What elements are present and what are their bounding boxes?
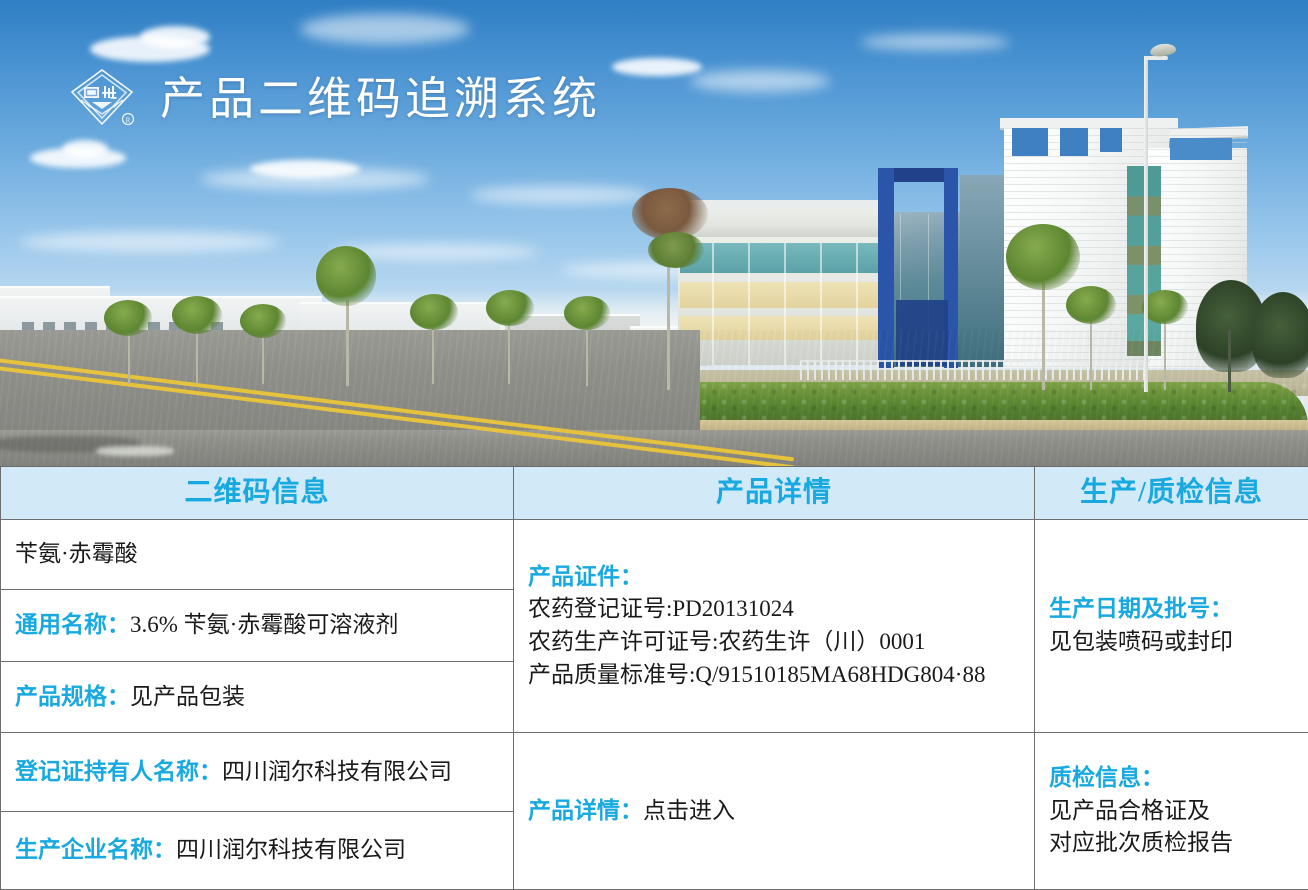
qc-line-1: 见产品合格证及 (1049, 795, 1294, 828)
tree-canopy (410, 294, 458, 330)
tree-canopy (1006, 224, 1080, 290)
column-header-production-info: 生产/质检信息 (1035, 467, 1308, 520)
tower-sky-notch (1100, 128, 1122, 152)
manufacturer-value: 四川润尔科技有限公司 (176, 837, 406, 862)
column-header-product-detail: 产品详情 (514, 467, 1035, 520)
page-title: 产品二维码追溯系统 (160, 76, 601, 121)
table-row: 苄氨·赤霉酸 产品证件： 农药登记证号:PD20131024 农药生产许可证号:… (1, 520, 1308, 590)
product-detail-label: 产品详情： (528, 798, 643, 823)
registrant-holder-row: 登记证持有人名称：四川润尔科技有限公司 (15, 759, 452, 784)
cloud-icon (612, 58, 702, 76)
tree-trunk (346, 300, 349, 386)
tree-canopy (104, 300, 152, 336)
street-lamp-pole (1144, 56, 1148, 392)
certificate-production-license-no: 农药生产许可证号:农药生许（川）0001 (528, 626, 1020, 659)
specification-label: 产品规格： (15, 684, 130, 709)
qc-label: 质检信息： (1049, 762, 1294, 795)
certificate-registration-no: 农药登记证号:PD20131024 (528, 593, 1020, 626)
cloud-icon (860, 34, 1010, 50)
specification-row: 产品规格：见产品包装 (15, 684, 245, 709)
cell-production-batch: 生产日期及批号： 见包装喷码或封印 (1035, 520, 1308, 733)
table-row: 登记证持有人名称：四川润尔科技有限公司 产品详情：点击进入 质检信息： 见产品合… (1, 733, 1308, 812)
product-name-value: 苄氨·赤霉酸 (15, 541, 138, 566)
street-lamp-arm (1146, 56, 1168, 60)
cell-specification: 产品规格：见产品包装 (1, 662, 514, 733)
cell-manufacturer: 生产企业名称：四川润尔科技有限公司 (1, 812, 514, 890)
dark-tree (1252, 292, 1308, 378)
cloud-icon (20, 232, 280, 252)
cell-registrant-holder: 登记证持有人名称：四川润尔科技有限公司 (1, 733, 514, 812)
guoguang-diamond-logo: R (66, 62, 138, 134)
page-root: R 产品二维码追溯系统 二维码信息 产品详情 生产/质检信息 (0, 0, 1308, 888)
svg-text:R: R (126, 117, 131, 125)
office-facade-band (680, 282, 878, 308)
cloud-icon (300, 14, 470, 44)
table-header-row: 二维码信息 产品详情 生产/质检信息 (1, 467, 1308, 520)
road-patch (96, 446, 174, 456)
manufacturer-row: 生产企业名称：四川润尔科技有限公司 (15, 837, 406, 862)
column-header-qrcode-info: 二维码信息 (1, 467, 514, 520)
cloud-icon (250, 160, 360, 178)
tower-sky-notch (1170, 138, 1232, 160)
factory-photo-banner: R 产品二维码追溯系统 (0, 0, 1308, 466)
general-name-row: 通用名称：3.6% 苄氨·赤霉酸可溶液剂 (15, 612, 398, 637)
brand-header: R 产品二维码追溯系统 (66, 62, 601, 134)
column-header-label: 二维码信息 (184, 477, 329, 508)
cloud-icon (62, 140, 108, 158)
cell-product-certificates: 产品证件： 农药登记证号:PD20131024 农药生产许可证号:农药生许（川）… (514, 520, 1035, 733)
tree-trunk (1228, 330, 1231, 392)
cell-product-name: 苄氨·赤霉酸 (1, 520, 514, 590)
specification-value: 见产品包装 (130, 684, 245, 709)
tree-canopy (172, 296, 222, 334)
batch-value: 见包装喷码或封印 (1049, 626, 1294, 659)
tree-trunk (1042, 280, 1045, 390)
certificates-block: 产品证件： 农药登记证号:PD20131024 农药生产许可证号:农药生许（川）… (528, 561, 1020, 692)
registrant-holder-label: 登记证持有人名称： (15, 759, 222, 784)
registrant-holder-value: 四川润尔科技有限公司 (222, 759, 452, 784)
tower-sky-notch (1012, 128, 1048, 156)
batch-label: 生产日期及批号： (1049, 593, 1294, 626)
column-header-label: 生产/质检信息 (1080, 477, 1263, 508)
tree-canopy-tall (648, 232, 704, 268)
office-glass-band (680, 243, 878, 273)
tower-sky-notch (1060, 128, 1088, 156)
office-roof-slab (676, 200, 886, 209)
tree-canopy (564, 296, 610, 330)
product-trace-table: 二维码信息 产品详情 生产/质检信息 苄氨·赤霉酸 产品证件： 农药登记证号:P… (0, 466, 1308, 890)
batch-block: 生产日期及批号： 见包装喷码或封印 (1049, 593, 1294, 658)
certificates-label: 产品证件： (528, 561, 1020, 594)
manufacturer-label: 生产企业名称： (15, 837, 176, 862)
general-name-value: 3.6% 苄氨·赤霉酸可溶液剂 (130, 612, 398, 637)
qc-line-2: 对应批次质检报告 (1049, 827, 1294, 860)
cell-general-name: 通用名称：3.6% 苄氨·赤霉酸可溶液剂 (1, 590, 514, 662)
tree-canopy (1142, 290, 1188, 324)
cloud-icon (470, 186, 650, 204)
tree-canopy (486, 290, 534, 326)
qc-block: 质检信息： 见产品合格证及 对应批次质检报告 (1049, 762, 1294, 860)
tree-canopy (240, 304, 286, 338)
column-header-label: 产品详情 (716, 477, 832, 508)
general-name-label: 通用名称： (15, 612, 130, 637)
product-detail-row[interactable]: 产品详情：点击进入 (528, 798, 735, 823)
cloud-icon (690, 70, 830, 92)
tree-canopy (1066, 286, 1116, 324)
product-detail-enter-link[interactable]: 点击进入 (643, 798, 735, 823)
cell-product-detail-link[interactable]: 产品详情：点击进入 (514, 733, 1035, 890)
cloud-icon (140, 26, 210, 48)
cell-qc-info: 质检信息： 见产品合格证及 对应批次质检报告 (1035, 733, 1308, 890)
certificate-quality-standard-no: 产品质量标准号:Q/91510185MA68HDG804·88 (528, 659, 1020, 692)
tree-canopy (316, 246, 376, 306)
office-building-pale (678, 209, 880, 237)
